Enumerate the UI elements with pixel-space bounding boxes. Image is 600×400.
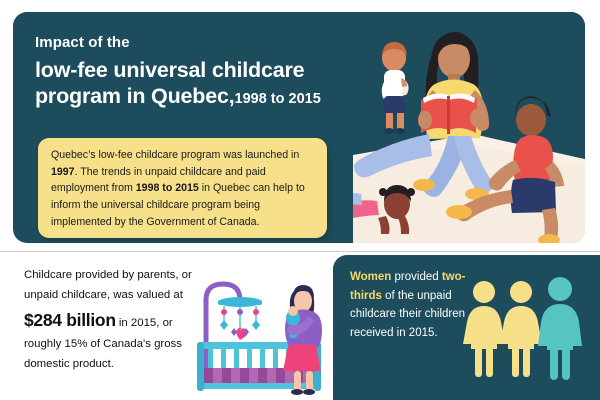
women-text-1: provided xyxy=(391,271,442,283)
women-highlight: Women xyxy=(350,271,391,283)
childcare-value-text: Childcare provided by parents, or unpaid… xyxy=(24,266,199,375)
header-title-daterange: 1998 to 2015 xyxy=(235,91,321,107)
callout-bold-1997: 1997 xyxy=(51,166,75,178)
callout-part-1: Quebec’s low-fee childcare program was l… xyxy=(51,149,299,161)
bottom-left-panel: Childcare provided by parents, or unpaid… xyxy=(0,252,333,400)
childcare-text-before: Childcare provided by parents, or unpaid… xyxy=(24,269,192,301)
infographic-root: Impact of the low-fee universal childcar… xyxy=(0,0,600,400)
crib-with-mobile-and-mother-holding-baby-illustration xyxy=(190,270,330,395)
childcare-amount: $284 billion xyxy=(24,310,116,330)
three-person-figures-icon xyxy=(458,275,593,387)
callout-box: Quebec’s low-fee childcare program was l… xyxy=(38,138,327,238)
woman-reading-book-to-children-illustration xyxy=(353,12,585,243)
callout-bold-daterange: 1998 to 2015 xyxy=(136,182,199,194)
bottom-right-panel: Women provided two-thirds of the unpaid … xyxy=(333,255,600,400)
header-kicker: Impact of the xyxy=(35,34,385,53)
header-title-main: program in Quebec, xyxy=(35,84,235,108)
header-title-line-2: program in Quebec,1998 to 2015 xyxy=(35,83,385,109)
callout-text: Quebec’s low-fee childcare program was l… xyxy=(51,147,315,231)
header-title-line-1: low-fee universal childcare xyxy=(35,57,385,83)
header-text-block: Impact of the low-fee universal childcar… xyxy=(35,34,385,109)
